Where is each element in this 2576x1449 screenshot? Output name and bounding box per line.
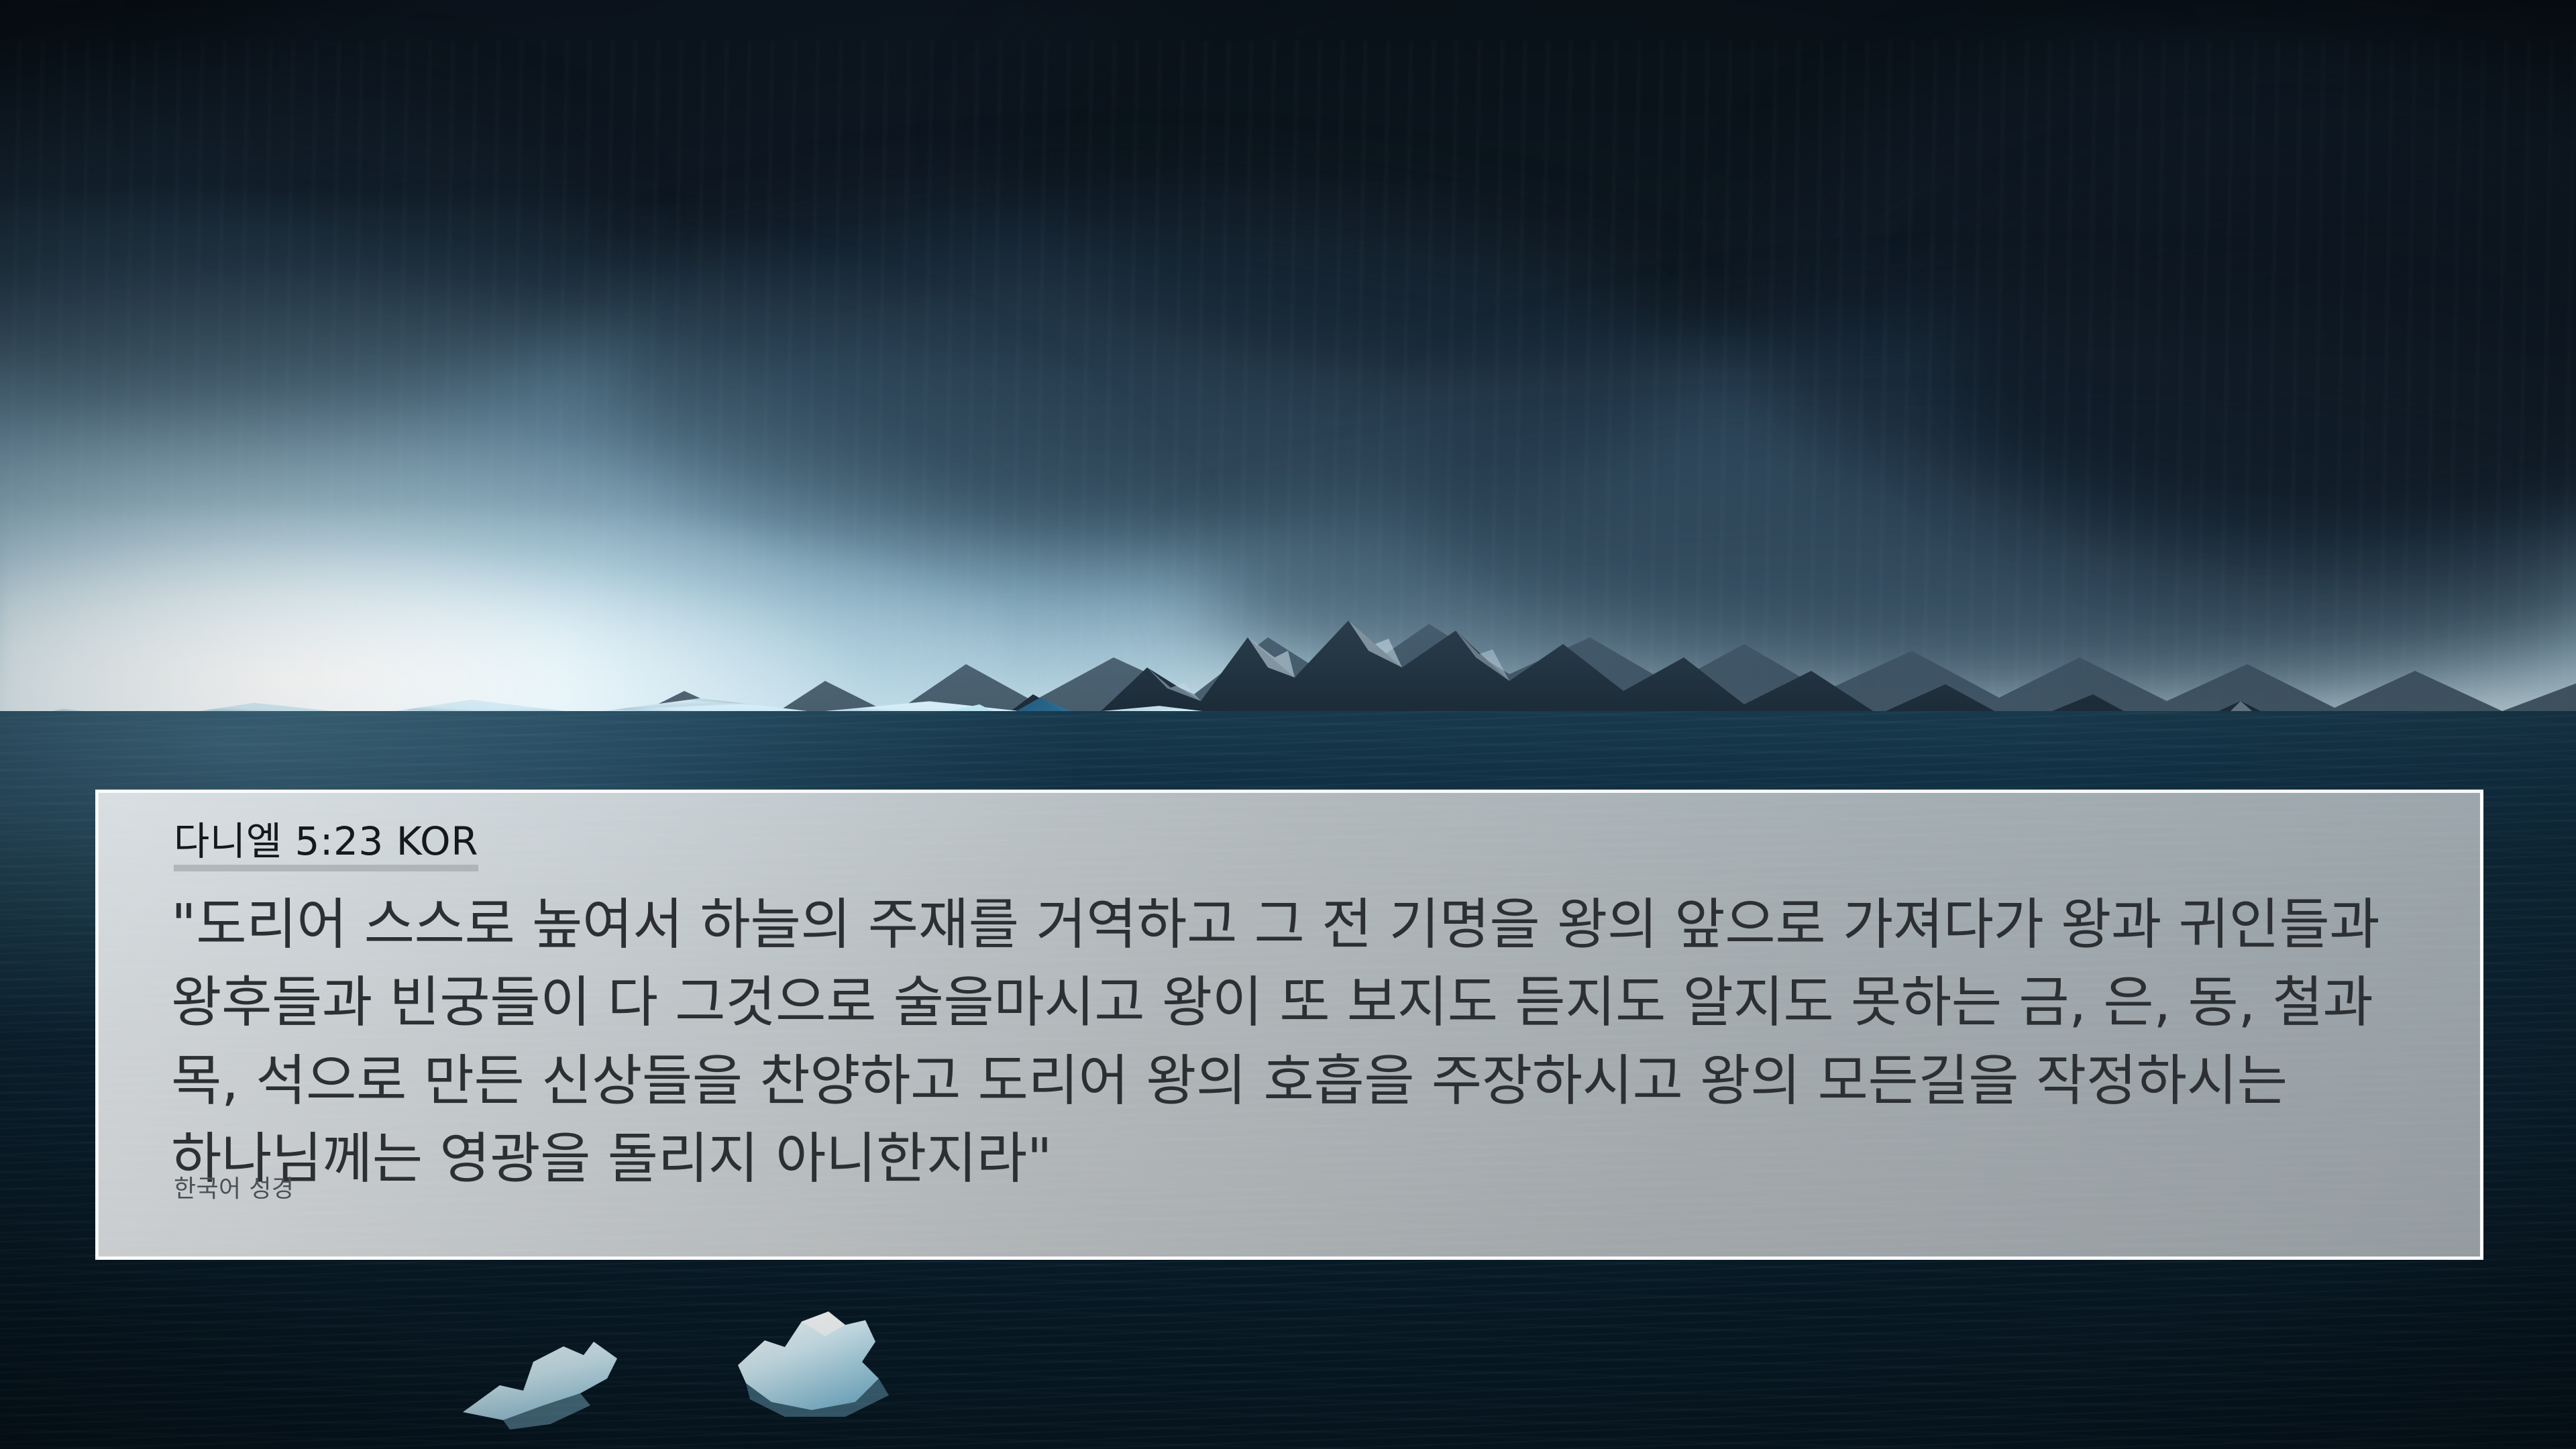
verse-source-label: 한국어 성경 bbox=[174, 1169, 294, 1204]
verse-text: "도리어 스스로 높여서 하늘의 주재를 거역하고 그 전 기명을 왕의 앞으로… bbox=[171, 886, 2422, 1199]
ice-floe-right bbox=[711, 1295, 993, 1449]
verse-reference-underline bbox=[174, 865, 478, 871]
verse-reference: 다니엘 5:23 KOR bbox=[174, 821, 478, 862]
verse-reference-block: 다니엘 5:23 KOR bbox=[174, 821, 478, 871]
screenshot-root: 다니엘 5:23 KOR "도리어 스스로 높여서 하늘의 주재를 거역하고 그… bbox=[0, 0, 2576, 1449]
ice-floe-left bbox=[463, 1305, 745, 1439]
verse-card: 다니엘 5:23 KOR "도리어 스스로 높여서 하늘의 주재를 거역하고 그… bbox=[95, 790, 2483, 1260]
